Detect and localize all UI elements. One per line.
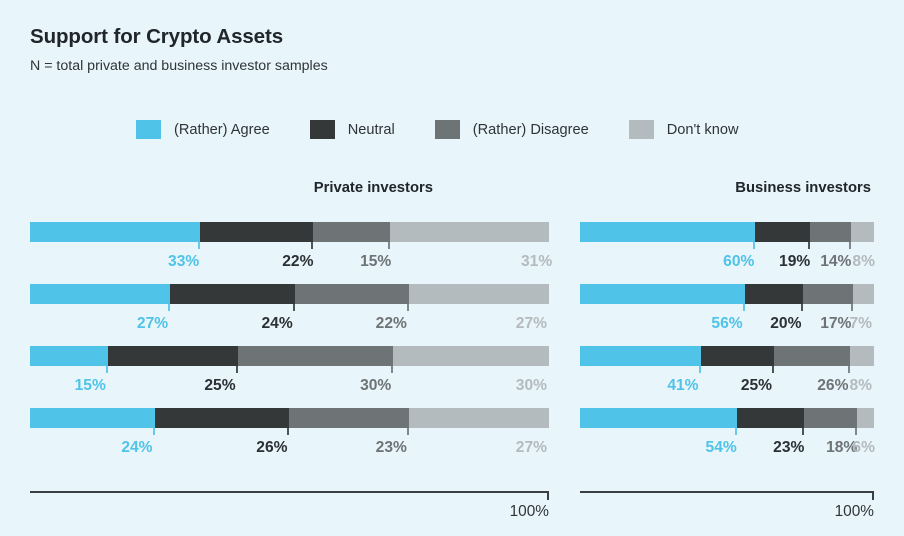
value-label: 8% <box>852 253 877 271</box>
rows-private: Crypto is an own asset class33%22%15%31%… <box>30 222 549 470</box>
segment-neutral <box>108 346 238 366</box>
value-label: 24% <box>121 439 154 457</box>
stacked-bar <box>580 222 874 242</box>
segment-disagree <box>289 408 408 428</box>
value-label: 30% <box>516 377 549 395</box>
axis-private: 100% <box>30 491 549 493</box>
legend-swatch-dontknow <box>629 120 654 139</box>
segment-tick <box>743 304 745 311</box>
segment-neutral <box>745 284 804 304</box>
segment-disagree <box>774 346 850 366</box>
value-label: 30% <box>360 377 393 395</box>
segment-tick <box>735 428 737 435</box>
segment-agree <box>580 222 755 242</box>
rows-business: Crypto is an own asset class60%19%14%8%C… <box>580 222 874 470</box>
value-labels: 27%24%22%27% <box>30 311 549 333</box>
segment-disagree <box>238 346 394 366</box>
segment-dontknow <box>857 408 874 428</box>
segment-dontknow <box>853 284 874 304</box>
segment-dontknow <box>393 346 549 366</box>
value-label: 26% <box>817 377 850 395</box>
segment-tick <box>153 428 155 435</box>
value-label: 7% <box>849 315 874 333</box>
segment-tick <box>311 242 313 249</box>
segment-dontknow <box>409 284 549 304</box>
segment-tick <box>699 366 701 373</box>
value-label: 41% <box>667 377 700 395</box>
value-labels: 15%25%30%30% <box>30 373 549 395</box>
chart-row: Crypto is an own asset class60%19%14%8% <box>580 222 874 284</box>
segment-tick <box>851 304 853 311</box>
segment-tick <box>848 366 850 373</box>
legend-item-label: (Rather) Disagree <box>473 122 589 138</box>
value-label: 24% <box>261 315 294 333</box>
segment-tick <box>808 242 810 249</box>
panel-heading-private: Private investors <box>30 178 549 198</box>
stacked-bar <box>30 346 549 366</box>
stacked-bar <box>580 408 874 428</box>
value-label: 25% <box>741 377 774 395</box>
panel-private-investors: Private investors Crypto is an own asset… <box>30 178 549 493</box>
chart-row: BTC is the only relevant crypto asset15%… <box>30 346 549 408</box>
value-label: 26% <box>256 439 289 457</box>
panel-business-investors: Business investors Crypto is an own asse… <box>580 178 874 493</box>
segment-neutral <box>737 408 804 428</box>
legend-swatch-disagree <box>435 120 460 139</box>
value-labels: 56%20%17%7% <box>580 311 874 333</box>
value-label: 20% <box>770 315 803 333</box>
value-label: 22% <box>376 315 409 333</box>
segment-tick <box>849 242 851 249</box>
segment-disagree <box>810 222 851 242</box>
axis-label-business: 100% <box>835 503 874 521</box>
segment-agree <box>580 346 701 366</box>
value-label: 27% <box>137 315 170 333</box>
legend-item: (Rather) Disagree <box>435 120 589 139</box>
segment-disagree <box>313 222 390 242</box>
segment-dontknow <box>851 222 874 242</box>
chart-subtitle: N = total private and business investor … <box>30 49 328 75</box>
segment-agree <box>580 284 745 304</box>
segment-dontknow <box>850 346 874 366</box>
page-title: Support for Crypto Assets <box>30 26 328 49</box>
value-label: 25% <box>204 377 237 395</box>
value-label: 33% <box>168 253 201 271</box>
legend-item-label: Neutral <box>348 122 395 138</box>
segment-agree <box>30 346 108 366</box>
chart-row: Crypto as an investment offers great gro… <box>580 408 874 470</box>
panel-heading-business: Business investors <box>580 178 874 198</box>
value-label: 8% <box>849 377 874 395</box>
segment-tick <box>168 304 170 311</box>
row-label: Crypto will become more relevant in the … <box>0 279 22 315</box>
chart-row: Crypto will become more relevant in the … <box>30 284 549 346</box>
segment-tick <box>753 242 755 249</box>
chart-header: Support for Crypto Assets N = total priv… <box>30 26 328 74</box>
row-label: BTC is the only relevant crypto asset <box>0 341 22 377</box>
value-label: 17% <box>820 315 853 333</box>
value-label: 27% <box>516 315 549 333</box>
value-label: 31% <box>521 253 554 271</box>
chart-row: Crypto will become more relevant in the … <box>580 284 874 346</box>
stacked-bar <box>30 284 549 304</box>
legend-swatch-neutral <box>310 120 335 139</box>
legend-item: (Rather) Agree <box>136 120 270 139</box>
value-label: 14% <box>820 253 853 271</box>
segment-neutral <box>701 346 775 366</box>
stacked-bar <box>30 408 549 428</box>
value-label: 19% <box>779 253 812 271</box>
segment-disagree <box>803 284 853 304</box>
row-label: Crypto is an own asset class <box>0 235 22 253</box>
value-label: 15% <box>360 253 393 271</box>
segment-tick <box>287 428 289 435</box>
axis-label-private: 100% <box>510 503 549 521</box>
stacked-bar <box>30 222 549 242</box>
row-label: Crypto as an investment offers great gro… <box>0 403 22 439</box>
segment-disagree <box>295 284 409 304</box>
segment-neutral <box>755 222 810 242</box>
axis-business: 100% <box>580 491 874 493</box>
legend-item: Don't know <box>629 120 739 139</box>
value-label: 15% <box>75 377 108 395</box>
segment-neutral <box>170 284 295 304</box>
value-label: 23% <box>773 439 806 457</box>
chart-legend: (Rather) AgreeNeutral(Rather) DisagreeDo… <box>136 120 779 139</box>
legend-item-label: (Rather) Agree <box>174 122 270 138</box>
legend-swatch-agree <box>136 120 161 139</box>
segment-tick <box>407 428 409 435</box>
segment-tick <box>293 304 295 311</box>
legend-item: Neutral <box>310 120 395 139</box>
segment-dontknow <box>409 408 549 428</box>
value-label: 60% <box>723 253 756 271</box>
segment-agree <box>30 284 170 304</box>
value-label: 56% <box>711 315 744 333</box>
stacked-bar <box>580 284 874 304</box>
chart-row: Crypto as an investment offers great gro… <box>30 408 549 470</box>
value-labels: 41%25%26%8% <box>580 373 874 395</box>
segment-tick <box>801 304 803 311</box>
value-labels: 24%26%23%27% <box>30 435 549 457</box>
value-label: 23% <box>376 439 409 457</box>
value-label: 6% <box>852 439 877 457</box>
stacked-bar <box>580 346 874 366</box>
segment-agree <box>30 408 155 428</box>
segment-tick <box>802 428 804 435</box>
value-labels: 54%23%18%6% <box>580 435 874 457</box>
chart-row: Crypto is an own asset class33%22%15%31% <box>30 222 549 284</box>
segment-tick <box>391 366 393 373</box>
chart-row: BTC is the only relevant crypto asset41%… <box>580 346 874 408</box>
value-label: 22% <box>282 253 315 271</box>
segment-agree <box>30 222 200 242</box>
segment-neutral <box>200 222 313 242</box>
segment-tick <box>855 428 857 435</box>
value-labels: 60%19%14%8% <box>580 249 874 271</box>
value-label: 54% <box>706 439 739 457</box>
segment-dontknow <box>390 222 549 242</box>
segment-tick <box>236 366 238 373</box>
value-labels: 33%22%15%31% <box>30 249 549 271</box>
legend-item-label: Don't know <box>667 122 739 138</box>
segment-tick <box>407 304 409 311</box>
value-label: 27% <box>516 439 549 457</box>
segment-agree <box>580 408 737 428</box>
segment-tick <box>106 366 108 373</box>
segment-disagree <box>804 408 856 428</box>
segment-tick <box>198 242 200 249</box>
segment-tick <box>388 242 390 249</box>
segment-neutral <box>155 408 290 428</box>
segment-tick <box>772 366 774 373</box>
